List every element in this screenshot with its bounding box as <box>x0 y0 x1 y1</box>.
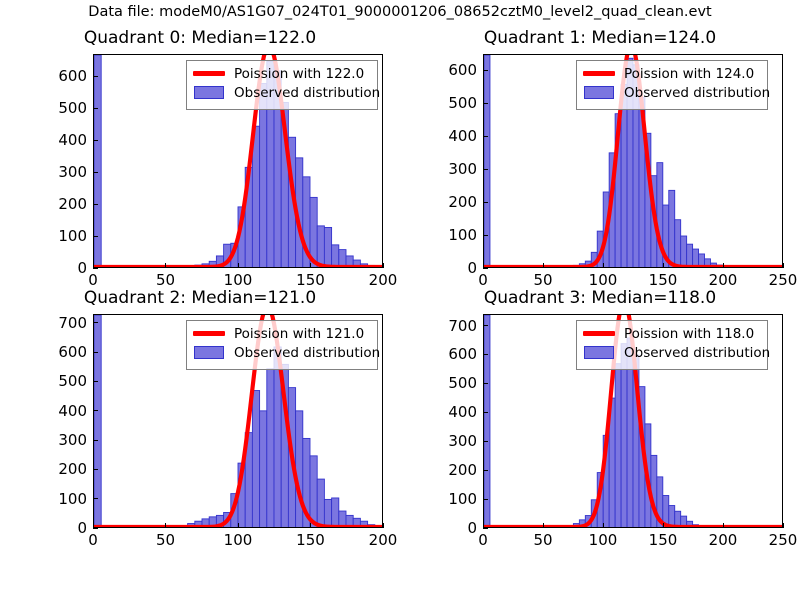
histogram-bar <box>310 456 317 527</box>
histogram-bar <box>687 244 693 267</box>
y-tick-mark <box>93 381 98 382</box>
patch-swatch-icon <box>582 86 616 100</box>
y-tick-label: 200 <box>45 197 87 212</box>
y-tick-label: 400 <box>45 133 87 148</box>
x-tick-label: 150 <box>281 273 341 288</box>
legend-label-observed: Observed distribution <box>234 345 380 361</box>
y-tick-mark <box>483 169 488 170</box>
subplot-title-quadrant-3: Quadrant 3: Median=118.0 <box>400 288 800 308</box>
x-tick-label: 200 <box>693 273 753 288</box>
line-swatch-icon <box>582 67 616 81</box>
legend-label-poisson: Poission with 122.0 <box>234 66 364 82</box>
y-tick-label: 300 <box>435 162 477 177</box>
histogram-bar <box>675 220 681 267</box>
histogram-bar <box>621 344 627 527</box>
x-tick-mark <box>310 263 311 268</box>
histogram-bar <box>324 499 331 527</box>
histogram-bar <box>260 411 267 527</box>
y-tick-label: 400 <box>45 404 87 419</box>
y-tick-mark <box>483 528 488 529</box>
y-tick-label: 300 <box>45 433 87 448</box>
x-tick-label: 0 <box>453 533 513 548</box>
y-tick-mark <box>93 236 98 237</box>
x-tick-mark <box>603 263 604 268</box>
legend-quadrant-1[interactable]: Poission with 124.0 Observed distributio… <box>576 60 768 110</box>
y-tick-mark <box>483 70 488 71</box>
histogram-bar <box>317 226 324 267</box>
legend-label-observed: Observed distribution <box>624 345 770 361</box>
y-tick-mark <box>93 410 98 411</box>
patch-swatch-icon <box>582 346 616 360</box>
x-tick-label: 0 <box>63 273 123 288</box>
y-tick-label: 400 <box>435 405 477 420</box>
y-tick-mark <box>93 268 98 269</box>
x-tick-mark <box>543 523 544 528</box>
y-tick-mark <box>93 322 98 323</box>
y-tick-mark <box>483 499 488 500</box>
y-tick-label: 200 <box>435 463 477 478</box>
legend-entry-observed: Observed distribution <box>192 83 372 102</box>
x-tick-mark <box>723 263 724 268</box>
legend-quadrant-3[interactable]: Poission with 118.0 Observed distributio… <box>576 320 768 370</box>
legend-label-poisson: Poission with 118.0 <box>624 326 754 342</box>
y-tick-label: 200 <box>435 195 477 210</box>
histogram-bar <box>484 315 490 527</box>
y-tick-mark <box>483 235 488 236</box>
x-tick-label: 100 <box>573 533 633 548</box>
x-tick-mark <box>383 263 384 268</box>
x-tick-mark <box>603 523 604 528</box>
histogram-bar <box>669 190 675 267</box>
x-tick-mark <box>783 263 784 268</box>
x-tick-label: 250 <box>753 273 800 288</box>
x-tick-mark <box>723 523 724 528</box>
y-tick-label: 200 <box>45 462 87 477</box>
x-tick-label: 50 <box>136 273 196 288</box>
x-tick-label: 150 <box>633 273 693 288</box>
histogram-bar <box>252 391 259 527</box>
legend-label-poisson: Poission with 124.0 <box>624 66 754 82</box>
legend-label-observed: Observed distribution <box>234 85 380 101</box>
y-tick-label: 600 <box>435 63 477 78</box>
patch-swatch-icon <box>192 346 226 360</box>
y-tick-mark <box>483 268 488 269</box>
x-tick-mark <box>238 263 239 268</box>
y-tick-mark <box>483 103 488 104</box>
y-tick-mark <box>483 354 488 355</box>
histogram-bar <box>332 498 339 527</box>
patch-swatch-icon <box>192 86 226 100</box>
legend-entry-poisson: Poission with 124.0 <box>582 64 762 83</box>
y-tick-mark <box>93 76 98 77</box>
legend-entry-observed: Observed distribution <box>582 83 762 102</box>
subplot-title-quadrant-1: Quadrant 1: Median=124.0 <box>400 28 800 48</box>
x-tick-mark <box>783 523 784 528</box>
legend-entry-observed: Observed distribution <box>582 343 762 362</box>
histogram-bar <box>681 236 687 267</box>
y-tick-label: 300 <box>45 165 87 180</box>
figure-canvas: Data file: modeM0/AS1G07_024T01_90000012… <box>0 0 800 600</box>
y-tick-label: 700 <box>45 316 87 331</box>
y-tick-label: 500 <box>435 376 477 391</box>
y-tick-mark <box>483 325 488 326</box>
x-tick-mark <box>383 523 384 528</box>
y-tick-label: 600 <box>45 345 87 360</box>
y-tick-mark <box>483 202 488 203</box>
line-swatch-icon <box>192 327 226 341</box>
x-tick-mark <box>663 523 664 528</box>
y-tick-mark <box>93 528 98 529</box>
y-tick-mark <box>93 108 98 109</box>
y-tick-label: 300 <box>435 434 477 449</box>
x-tick-mark <box>543 263 544 268</box>
subplot-quadrant-1: Quadrant 1: Median=124.0 Poission with 1… <box>400 28 800 296</box>
subplot-title-quadrant-2: Quadrant 2: Median=121.0 <box>0 288 400 308</box>
y-tick-label: 500 <box>45 101 87 116</box>
x-tick-label: 100 <box>573 273 633 288</box>
x-tick-label: 250 <box>753 533 800 548</box>
x-tick-label: 100 <box>208 533 268 548</box>
legend-label-observed: Observed distribution <box>624 85 770 101</box>
y-tick-label: 500 <box>45 374 87 389</box>
y-tick-label: 100 <box>435 228 477 243</box>
x-tick-label: 0 <box>453 273 513 288</box>
histogram-bar <box>267 369 274 527</box>
histogram-bar <box>693 249 699 267</box>
x-tick-label: 0 <box>63 533 123 548</box>
x-tick-label: 200 <box>693 533 753 548</box>
x-tick-mark <box>310 523 311 528</box>
histogram-bar <box>94 315 101 527</box>
legend-entry-poisson: Poission with 118.0 <box>582 324 762 343</box>
x-tick-label: 50 <box>136 533 196 548</box>
y-tick-mark <box>93 469 98 470</box>
legend-quadrant-0[interactable]: Poission with 122.0 Observed distributio… <box>186 60 378 110</box>
histogram-bar <box>317 479 324 527</box>
y-tick-label: 100 <box>435 492 477 507</box>
legend-quadrant-2[interactable]: Poission with 121.0 Observed distributio… <box>186 320 378 370</box>
x-tick-mark <box>93 523 94 528</box>
legend-label-poisson: Poission with 121.0 <box>234 326 364 342</box>
y-tick-mark <box>93 204 98 205</box>
histogram-bar <box>296 411 303 527</box>
y-tick-label: 100 <box>45 229 87 244</box>
y-tick-label: 700 <box>435 319 477 334</box>
figure-title: Data file: modeM0/AS1G07_024T01_90000012… <box>0 4 800 20</box>
subplot-quadrant-2: Quadrant 2: Median=121.0 Poission with 1… <box>0 288 400 556</box>
x-tick-mark <box>93 263 94 268</box>
y-tick-mark <box>93 172 98 173</box>
histogram-bar <box>324 227 331 267</box>
histogram-bar <box>669 506 675 527</box>
histogram-bar <box>260 83 267 267</box>
histogram-bar <box>339 250 346 267</box>
line-swatch-icon <box>192 67 226 81</box>
x-tick-label: 50 <box>513 533 573 548</box>
y-tick-mark <box>93 352 98 353</box>
y-tick-label: 100 <box>45 492 87 507</box>
line-swatch-icon <box>582 327 616 341</box>
y-tick-mark <box>483 383 488 384</box>
histogram-bar <box>339 511 346 527</box>
subplot-title-quadrant-0: Quadrant 0: Median=122.0 <box>0 28 400 48</box>
y-tick-mark <box>93 498 98 499</box>
x-tick-mark <box>483 263 484 268</box>
y-tick-mark <box>93 440 98 441</box>
subplot-quadrant-0: Quadrant 0: Median=122.0 Poission with 1… <box>0 28 400 296</box>
x-tick-label: 150 <box>633 533 693 548</box>
histogram-bar <box>615 364 621 527</box>
x-tick-mark <box>165 523 166 528</box>
y-tick-label: 400 <box>435 129 477 144</box>
y-tick-mark <box>483 136 488 137</box>
y-tick-label: 600 <box>435 347 477 362</box>
y-tick-mark <box>483 412 488 413</box>
x-tick-mark <box>165 263 166 268</box>
legend-entry-poisson: Poission with 122.0 <box>192 64 372 83</box>
x-tick-mark <box>238 523 239 528</box>
y-tick-mark <box>483 470 488 471</box>
histogram-bar <box>332 245 339 267</box>
x-tick-label: 150 <box>281 533 341 548</box>
y-tick-mark <box>483 441 488 442</box>
subplot-quadrant-3: Quadrant 3: Median=118.0 Poission with 1… <box>400 288 800 556</box>
histogram-bar <box>675 511 681 527</box>
x-tick-label: 50 <box>513 273 573 288</box>
y-tick-mark <box>93 140 98 141</box>
legend-entry-observed: Observed distribution <box>192 343 372 362</box>
x-tick-mark <box>663 263 664 268</box>
y-tick-label: 600 <box>45 69 87 84</box>
legend-entry-poisson: Poission with 121.0 <box>192 324 372 343</box>
x-tick-mark <box>483 523 484 528</box>
x-tick-label: 100 <box>208 273 268 288</box>
y-tick-label: 500 <box>435 96 477 111</box>
